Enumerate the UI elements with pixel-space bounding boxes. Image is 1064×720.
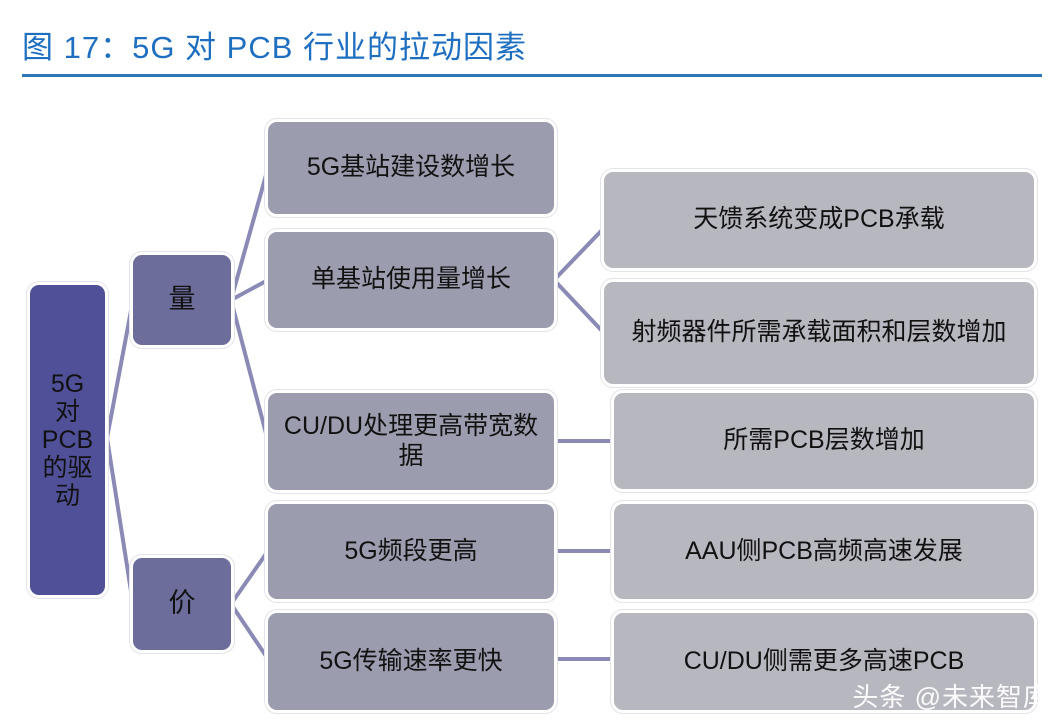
figure-canvas: 图 17：5G 对 PCB 行业的拉动因素 <box>0 0 1064 720</box>
node-right-2[interactable]: 射频器件所需承载面积和层数增加 <box>604 282 1034 384</box>
edge-jia-mid5 <box>231 604 268 659</box>
edge-liang-mid3 <box>231 300 268 441</box>
node-mid-4-label: 5G频段更高 <box>344 537 477 567</box>
edge-liang-mid1 <box>231 168 268 300</box>
node-mid-1[interactable]: 5G基站建设数增长 <box>268 122 554 214</box>
node-root[interactable]: 5G 对 PCB 的驱 动 <box>30 285 105 595</box>
node-right-1-label: 天馈系统变成PCB承载 <box>693 205 944 235</box>
node-right-3[interactable]: 所需PCB层数增加 <box>614 393 1034 489</box>
node-mid-3-label: CU/DU处理更高带宽数据 <box>274 412 548 471</box>
node-mid-2[interactable]: 单基站使用量增长 <box>268 232 554 328</box>
node-right-5-label: CU/DU侧需更多高速PCB <box>684 647 965 677</box>
node-right-4-label: AAU侧PCB高频高速发展 <box>685 537 963 567</box>
node-right-4[interactable]: AAU侧PCB高频高速发展 <box>614 504 1034 599</box>
node-mid-2-label: 单基站使用量增长 <box>311 265 511 295</box>
edge-root-jia <box>107 438 133 604</box>
node-mid-5[interactable]: 5G传输速率更快 <box>268 613 554 710</box>
node-right-3-label: 所需PCB层数增加 <box>723 426 924 456</box>
node-mid-3[interactable]: CU/DU处理更高带宽数据 <box>268 393 554 490</box>
node-root-label: 5G 对 PCB 的驱 动 <box>42 370 93 510</box>
edge-jia-mid4 <box>231 551 268 604</box>
node-branch-jia-label: 价 <box>169 588 196 620</box>
edge-root-liang <box>107 300 133 438</box>
edge-mid2-right1 <box>554 228 604 280</box>
watermark: 头条 @未来智库 <box>852 677 1050 714</box>
node-branch-liang-label: 量 <box>169 284 196 316</box>
node-mid-4[interactable]: 5G频段更高 <box>268 504 554 599</box>
edge-mid2-right2 <box>554 280 604 333</box>
node-right-2-label: 射频器件所需承载面积和层数增加 <box>631 318 1006 348</box>
node-branch-jia[interactable]: 价 <box>133 558 231 650</box>
node-mid-1-label: 5G基站建设数增长 <box>307 153 515 183</box>
node-mid-5-label: 5G传输速率更快 <box>319 647 502 677</box>
node-branch-liang[interactable]: 量 <box>133 255 231 345</box>
node-right-1[interactable]: 天馈系统变成PCB承载 <box>604 172 1034 268</box>
